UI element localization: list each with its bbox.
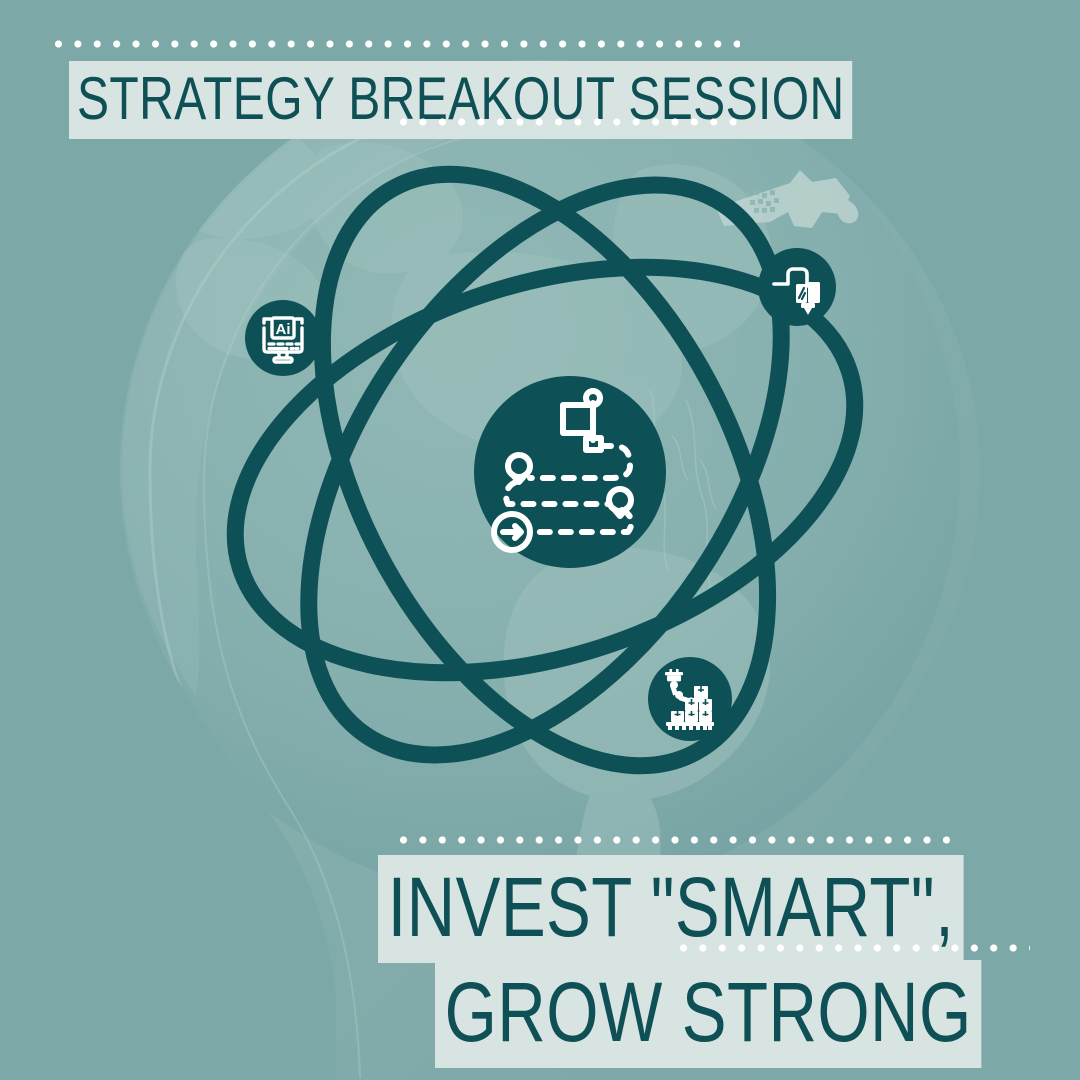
headline-line2-row: GROW STRONG xyxy=(435,960,1080,1068)
headline-line2: GROW STRONG xyxy=(435,960,981,1068)
header-dots-top xyxy=(55,40,740,48)
header-title-row: STRATEGY BREAKOUT SESSION xyxy=(69,61,1048,139)
header-dots-bottom xyxy=(400,118,740,126)
ai-monitor-icon: Ai xyxy=(255,310,311,366)
page-title: STRATEGY BREAKOUT SESSION xyxy=(69,61,853,139)
ai-label: Ai xyxy=(276,321,291,338)
poster-canvas: Ai xyxy=(0,0,1080,1080)
headline-dots-top xyxy=(400,836,955,844)
node-robotic-palletizing[interactable] xyxy=(648,657,732,741)
robot-arm-boxes-icon xyxy=(658,667,722,731)
cnc-drill-head-icon xyxy=(768,258,826,316)
headline-dots-middle xyxy=(680,944,1030,952)
node-ai-computer[interactable]: Ai xyxy=(245,300,321,376)
node-cnc-machining[interactable] xyxy=(758,248,836,326)
